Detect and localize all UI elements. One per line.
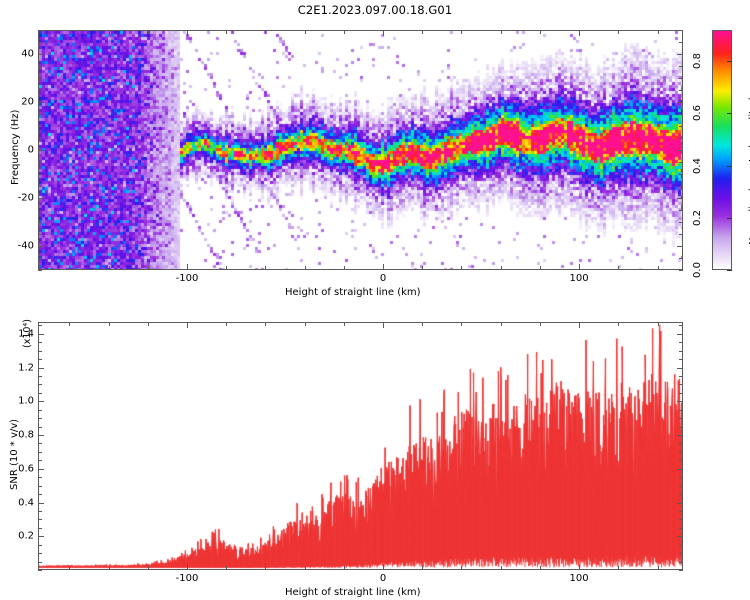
y-tick xyxy=(679,418,683,419)
colorbar-tick xyxy=(727,61,732,62)
x-tick xyxy=(579,322,580,328)
x-tick xyxy=(540,30,541,34)
y-tick xyxy=(38,234,42,235)
y-tick xyxy=(38,126,42,127)
y-tick xyxy=(679,270,683,271)
x-tick xyxy=(148,322,149,326)
y-tick xyxy=(38,342,42,343)
x-tick xyxy=(540,566,541,570)
x-tick-label: 100 xyxy=(570,273,589,284)
x-tick xyxy=(540,266,541,270)
x-tick xyxy=(265,266,266,270)
x-tick xyxy=(501,566,502,570)
x-tick xyxy=(305,266,306,270)
y-tick xyxy=(677,368,683,369)
y-tick xyxy=(677,246,683,247)
spectrogram-panel xyxy=(38,30,683,270)
spectrogram-x-axis-title: Height of straight line (km) xyxy=(285,287,421,298)
y-tick xyxy=(679,325,683,326)
x-tick xyxy=(422,266,423,270)
x-tick xyxy=(148,566,149,570)
y-tick xyxy=(38,503,44,504)
y-tick xyxy=(679,443,683,444)
x-tick xyxy=(226,322,227,326)
y-tick xyxy=(679,376,683,377)
y-tick xyxy=(38,435,44,436)
y-tick xyxy=(679,30,683,31)
spectrogram-image xyxy=(39,31,682,269)
y-tick xyxy=(38,222,42,223)
y-tick xyxy=(38,210,42,211)
y-tick-label: 0.2 xyxy=(4,531,34,542)
y-tick xyxy=(679,186,683,187)
x-tick xyxy=(187,30,188,36)
x-tick xyxy=(658,266,659,270)
colorbar-tick-label: 0.0 xyxy=(692,262,703,278)
y-tick xyxy=(38,334,44,335)
x-tick xyxy=(265,566,266,570)
colorbar-tick-label: 0.8 xyxy=(692,53,703,69)
x-tick xyxy=(618,30,619,34)
x-tick xyxy=(579,30,580,36)
x-tick xyxy=(226,266,227,270)
y-tick xyxy=(679,384,683,385)
colorbar-tick-label: 0.2 xyxy=(692,210,703,226)
y-tick xyxy=(679,452,683,453)
y-tick xyxy=(38,384,42,385)
y-tick xyxy=(679,258,683,259)
snr-x-axis-title: Height of straight line (km) xyxy=(285,587,421,598)
colorbar-tick xyxy=(727,166,732,167)
y-tick xyxy=(38,246,44,247)
y-tick xyxy=(38,460,42,461)
y-tick xyxy=(38,494,42,495)
y-tick xyxy=(38,393,42,394)
y-tick xyxy=(679,78,683,79)
y-tick xyxy=(38,270,42,271)
y-tick xyxy=(38,418,42,419)
y-tick xyxy=(679,138,683,139)
y-tick-label: 20 xyxy=(4,97,34,108)
x-tick xyxy=(305,566,306,570)
snr-y-axis-title: SNR (10 * v/v) xyxy=(9,419,20,490)
y-tick xyxy=(38,138,42,139)
x-tick-label: 100 xyxy=(570,573,589,584)
y-tick xyxy=(677,503,683,504)
x-tick xyxy=(461,566,462,570)
x-tick-label: 0 xyxy=(380,573,386,584)
y-tick xyxy=(679,393,683,394)
x-tick xyxy=(148,30,149,34)
y-tick xyxy=(679,562,683,563)
x-tick xyxy=(109,322,110,326)
y-tick xyxy=(677,469,683,470)
y-tick xyxy=(38,325,42,326)
y-tick xyxy=(679,162,683,163)
y-tick xyxy=(38,78,42,79)
colorbar-tick-label: 0.6 xyxy=(692,105,703,121)
x-tick xyxy=(148,266,149,270)
y-tick xyxy=(679,359,683,360)
x-tick xyxy=(658,322,659,326)
snr-panel xyxy=(38,322,683,570)
x-tick xyxy=(187,264,188,270)
x-tick xyxy=(422,30,423,34)
y-tick xyxy=(38,42,42,43)
x-tick xyxy=(383,564,384,570)
y-tick xyxy=(677,150,683,151)
x-tick xyxy=(658,566,659,570)
x-tick xyxy=(305,30,306,34)
x-tick xyxy=(501,322,502,326)
x-tick xyxy=(187,322,188,328)
x-tick xyxy=(344,266,345,270)
x-tick xyxy=(265,322,266,326)
y-tick xyxy=(38,511,42,512)
y-tick xyxy=(679,545,683,546)
x-tick xyxy=(579,564,580,570)
x-tick xyxy=(69,322,70,326)
y-tick-label: -40 xyxy=(4,241,34,252)
y-tick xyxy=(679,494,683,495)
snr-trace-plot xyxy=(39,323,682,569)
y-tick xyxy=(38,359,42,360)
y-tick xyxy=(679,114,683,115)
spectrogram-y-axis-title: Frequency (Hz) xyxy=(10,110,21,185)
x-tick xyxy=(344,566,345,570)
x-tick xyxy=(422,322,423,326)
x-tick xyxy=(109,566,110,570)
y-tick-label: 1.0 xyxy=(4,396,34,407)
y-tick xyxy=(38,528,42,529)
x-tick-label: -100 xyxy=(176,573,199,584)
y-tick xyxy=(677,334,683,335)
y-tick xyxy=(679,486,683,487)
colorbar-gradient xyxy=(713,31,731,269)
y-tick xyxy=(38,553,42,554)
y-tick-label: 1.2 xyxy=(4,362,34,373)
y-tick xyxy=(679,477,683,478)
y-tick xyxy=(38,376,42,377)
y-tick xyxy=(677,435,683,436)
colorbar-tick xyxy=(727,270,732,271)
y-tick xyxy=(38,54,44,55)
y-tick xyxy=(677,401,683,402)
x-tick xyxy=(501,30,502,34)
y-tick xyxy=(38,443,42,444)
y-tick xyxy=(679,66,683,67)
x-tick xyxy=(265,30,266,34)
y-tick-label: -20 xyxy=(4,193,34,204)
y-tick xyxy=(679,519,683,520)
y-tick xyxy=(38,66,42,67)
figure-root: C2E1.2023.097.00.18.G01 -100010040200-20… xyxy=(0,0,750,600)
y-tick-label: 0.4 xyxy=(4,497,34,508)
y-tick xyxy=(38,186,42,187)
y-tick xyxy=(679,511,683,512)
y-tick xyxy=(38,368,44,369)
snr-y-axis-multiplier: (x10⁴) xyxy=(22,319,33,348)
y-tick xyxy=(38,174,42,175)
y-tick xyxy=(679,528,683,529)
y-tick xyxy=(38,519,42,520)
y-tick xyxy=(38,162,42,163)
y-tick xyxy=(38,562,42,563)
y-tick xyxy=(38,410,42,411)
x-tick xyxy=(618,266,619,270)
y-tick xyxy=(679,90,683,91)
x-tick xyxy=(461,266,462,270)
y-tick xyxy=(679,427,683,428)
x-tick xyxy=(69,30,70,34)
y-tick xyxy=(679,351,683,352)
y-tick xyxy=(38,545,42,546)
y-tick xyxy=(38,30,42,31)
colorbar-tick xyxy=(727,218,732,219)
y-tick xyxy=(38,536,44,537)
x-tick xyxy=(344,30,345,34)
x-tick xyxy=(226,566,227,570)
x-tick xyxy=(187,564,188,570)
y-tick xyxy=(38,102,44,103)
x-tick xyxy=(501,266,502,270)
y-tick xyxy=(677,102,683,103)
y-tick xyxy=(38,469,44,470)
y-tick xyxy=(679,570,683,571)
y-tick xyxy=(679,460,683,461)
x-tick xyxy=(69,266,70,270)
y-tick xyxy=(679,410,683,411)
x-tick-label: -100 xyxy=(176,273,199,284)
y-tick xyxy=(679,342,683,343)
y-tick xyxy=(38,258,42,259)
x-tick xyxy=(344,322,345,326)
y-tick xyxy=(38,351,42,352)
y-tick xyxy=(38,486,42,487)
x-tick xyxy=(618,322,619,326)
y-tick xyxy=(679,222,683,223)
x-tick xyxy=(461,30,462,34)
y-tick xyxy=(679,126,683,127)
y-tick xyxy=(38,90,42,91)
y-tick xyxy=(38,401,44,402)
y-tick xyxy=(679,553,683,554)
y-tick xyxy=(677,54,683,55)
x-tick xyxy=(383,30,384,36)
figure-title: C2E1.2023.097.00.18.G01 xyxy=(0,3,750,17)
x-tick xyxy=(69,566,70,570)
x-tick xyxy=(618,566,619,570)
y-tick xyxy=(38,150,44,151)
y-tick xyxy=(38,114,42,115)
y-tick xyxy=(679,234,683,235)
y-tick-label: 40 xyxy=(4,49,34,60)
y-tick xyxy=(38,198,44,199)
x-tick xyxy=(461,322,462,326)
y-tick xyxy=(679,210,683,211)
colorbar xyxy=(712,30,732,270)
x-tick xyxy=(658,30,659,34)
x-tick xyxy=(540,322,541,326)
x-tick xyxy=(422,566,423,570)
y-tick xyxy=(677,198,683,199)
x-tick xyxy=(383,264,384,270)
y-tick xyxy=(38,477,42,478)
colorbar-tick xyxy=(727,113,732,114)
y-tick xyxy=(38,452,42,453)
y-tick xyxy=(38,427,42,428)
y-tick xyxy=(679,42,683,43)
colorbar-tick-label: 0.4 xyxy=(692,158,703,174)
x-tick xyxy=(305,322,306,326)
x-tick xyxy=(109,30,110,34)
x-tick-label: 0 xyxy=(380,273,386,284)
x-tick xyxy=(109,266,110,270)
x-tick xyxy=(579,264,580,270)
y-tick xyxy=(677,536,683,537)
x-tick xyxy=(226,30,227,34)
x-tick xyxy=(383,322,384,328)
y-tick xyxy=(38,570,42,571)
y-tick xyxy=(679,174,683,175)
